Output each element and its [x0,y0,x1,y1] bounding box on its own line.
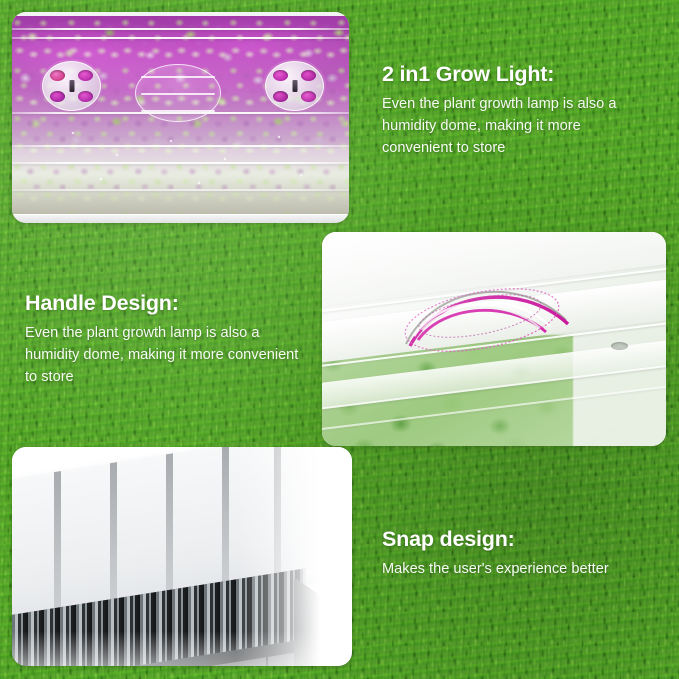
photo-grow-light-top-view [12,12,349,223]
water-droplet [198,182,200,184]
feature-body-snap: Makes the user's experience better [382,559,662,581]
water-droplet [170,140,172,142]
vent-hole [78,91,93,102]
dome-seam-line [12,28,349,30]
photo-tray-and-dome [12,447,352,666]
vent-hole [78,70,93,81]
photo-handle-closeup [322,232,666,446]
dome-handle-oval [135,64,221,122]
feature-text-grow-light: 2 in1 Grow Light: Even the plant growth … [382,62,654,160]
dome-rib [166,453,173,604]
dome-screw-hole [611,342,628,350]
feature-body-grow-light: Even the plant growth lamp is also a hum… [382,94,654,160]
vent-center-post [69,80,74,92]
vent-hole [50,70,65,81]
vent-center-post [292,80,297,92]
dome-rib [110,462,117,613]
vent-cap-right [265,61,324,111]
vent-cap-left [42,61,101,111]
water-droplet [300,174,302,176]
feature-heading-snap: Snap design: [382,527,662,552]
feature-heading-grow-light: 2 in1 Grow Light: [382,62,654,87]
dome-rib [222,447,229,595]
vent-hole [273,70,288,81]
vent-hole [50,91,65,102]
handle-bar [141,93,215,95]
handle-bar [141,76,215,78]
handle-arch [400,270,580,356]
bottom-fade [12,631,352,666]
dome-lower-wall [12,147,349,223]
water-droplet [278,136,280,138]
feature-text-snap: Snap design: Makes the user's experience… [382,527,662,581]
water-droplet [72,132,74,134]
feature-body-handle: Even the plant growth lamp is also a hum… [25,323,300,389]
water-droplet [224,158,226,160]
dome-seam-line [12,37,349,39]
handle-bar [141,110,215,112]
vent-hole [301,70,316,81]
product-feature-infographic: 2 in1 Grow Light: Even the plant growth … [0,0,679,679]
dome-rib [54,471,61,622]
vent-hole [273,91,288,102]
feature-heading-handle: Handle Design: [25,291,300,316]
water-droplet [100,178,102,180]
vent-hole [301,91,316,102]
water-droplet [116,154,118,156]
tray-base-edge [12,214,349,223]
feature-text-handle: Handle Design: Even the plant growth lam… [25,291,300,389]
